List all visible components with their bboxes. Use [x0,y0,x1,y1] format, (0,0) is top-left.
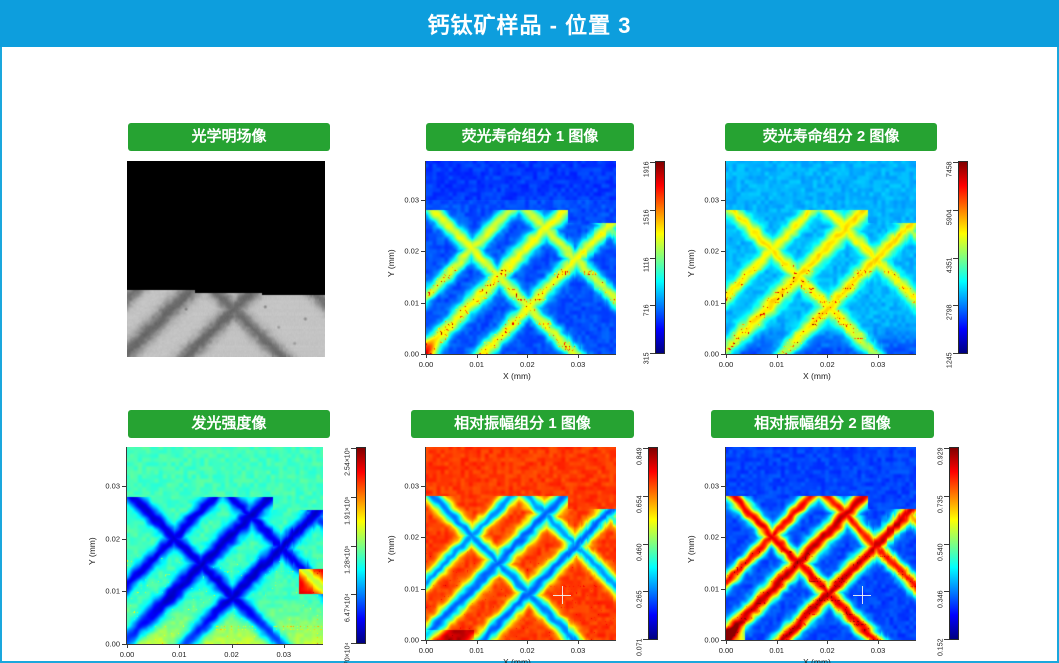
colorbar-relative-amplitude-2: 0.9290.7350.5400.3460.152 [933,447,963,640]
colorbar-tickmark [944,639,949,640]
y-tickmark [721,486,725,487]
x-axis-label: X (mm) [803,657,831,663]
y-tick-label: 0.00 [695,636,719,645]
x-tick-label: 0.00 [719,646,734,655]
panel-relative-amplitude-2: 相对振幅组分 2 图像0.000.010.020.030.000.010.020… [2,47,1057,659]
axis-frame [725,447,916,641]
y-tick-label: 0.03 [695,481,719,490]
x-tickmark [777,640,778,644]
plot-relative-amplitude-2[interactable]: 0.000.010.020.030.000.010.020.03X (mm)Y … [726,447,916,640]
colorbar-tickmark [944,591,949,592]
colorbar-tickmark [944,544,949,545]
y-tickmark [721,537,725,538]
panel-grid: 光学明场像荧光寿命组分 1 图像0.000.010.020.030.000.01… [2,47,1057,659]
x-tick-label: 0.01 [769,646,784,655]
colorbar-gradient [949,447,959,640]
panel-title-relative-amplitude-2[interactable]: 相对振幅组分 2 图像 [711,410,934,438]
title-bar: 钙钛矿样品 - 位置 3 [0,0,1059,47]
y-axis-label: Y (mm) [686,535,696,563]
app-window: 钙钛矿样品 - 位置 3 光学明场像荧光寿命组分 1 图像0.000.010.0… [0,0,1059,663]
colorbar-tickmark [944,448,949,449]
y-tick-label: 0.02 [695,533,719,542]
x-tickmark [827,640,828,644]
y-tick-label: 0.01 [695,584,719,593]
page-title: 钙钛矿样品 - 位置 3 [428,8,632,40]
colorbar-tickmark [944,496,949,497]
y-tickmark [721,589,725,590]
x-tickmark [726,640,727,644]
x-tick-label: 0.03 [871,646,886,655]
x-tick-label: 0.02 [820,646,835,655]
y-tickmark [721,640,725,641]
x-tickmark [878,640,879,644]
colorbar-tick-label: 0.152 [938,639,945,663]
content-frame: 光学明场像荧光寿命组分 1 图像0.000.010.020.030.000.01… [0,47,1059,663]
